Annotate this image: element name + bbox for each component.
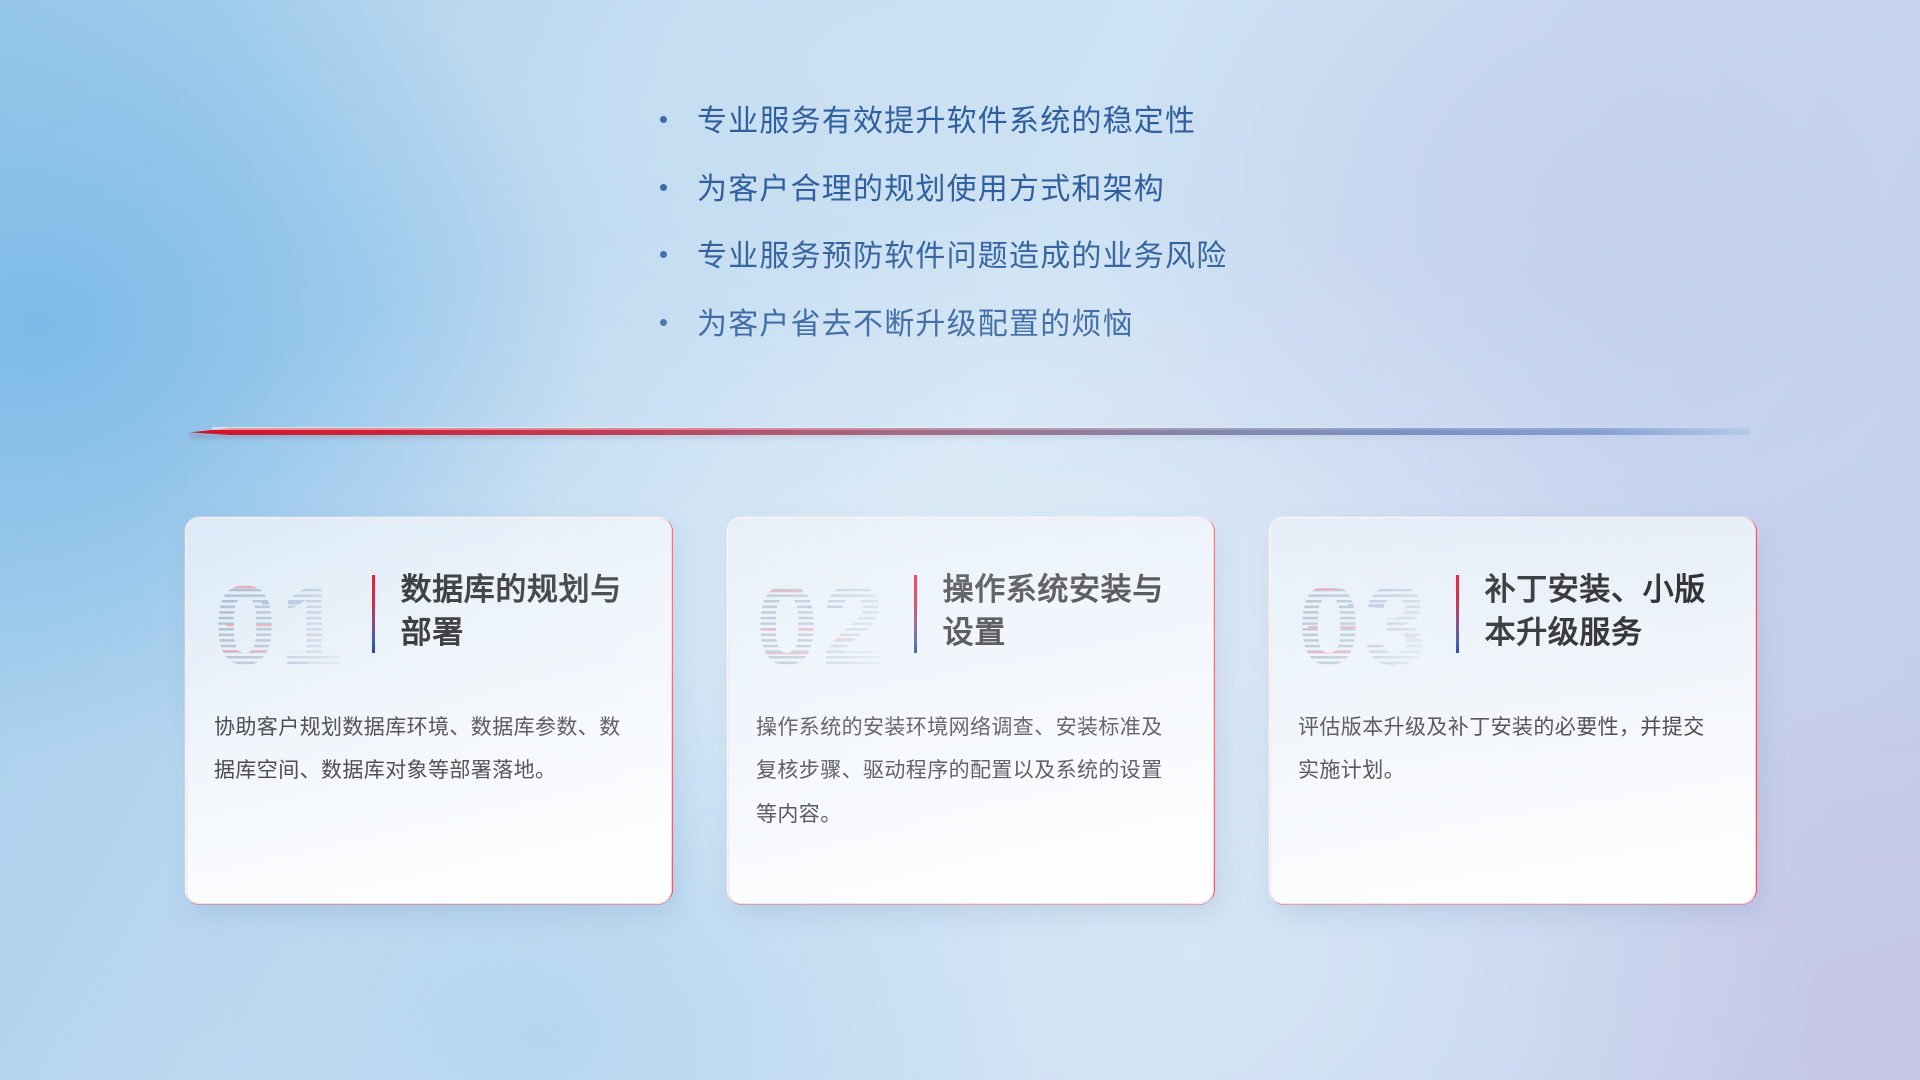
card-title: 补丁安装、小版本升级服务 [1485, 566, 1725, 655]
card-number-striped-graphic: 01 [210, 572, 370, 682]
card-title: 数据库的规划与部署 [401, 566, 641, 655]
card-number-striped-graphic: 02 [752, 572, 912, 682]
service-card-row: 01 数 [186, 518, 1756, 903]
bullet-dot-icon [660, 251, 667, 258]
list-item: 专业服务预防软件问题造成的业务风险 [660, 239, 1480, 276]
slide-canvas: 专业服务有效提升软件系统的稳定性 为客户合理的规划使用方式和架构 专业服务预防软… [0, 0, 1920, 1080]
card-description: 评估版本升级及补丁安装的必要性，并提交实施计划。 [1270, 694, 1755, 793]
bullet-label: 专业服务预防软件问题造成的业务风险 [697, 239, 1227, 276]
card-description: 协助客户规划数据库环境、数据库参数、数据库空间、数据库对象等部署落地。 [186, 694, 671, 793]
card-accent-rule [372, 575, 375, 653]
divider-highlight [212, 427, 1750, 430]
bullet-label: 为客户省去不断升级配置的烦恼 [697, 307, 1134, 344]
list-item: 专业服务有效提升软件系统的稳定性 [660, 104, 1480, 141]
list-item: 为客户合理的规划使用方式和架构 [660, 172, 1480, 209]
card-title: 操作系统安装与设置 [943, 566, 1183, 655]
bullet-label: 专业服务有效提升软件系统的稳定性 [697, 104, 1196, 141]
service-card-03[interactable]: 03 补 [1270, 518, 1755, 903]
bullet-dot-icon [660, 319, 667, 326]
card-description: 操作系统的安装环境网络调查、安装标准及复核步骤、驱动程序的配置以及系统的设置等内… [728, 694, 1213, 836]
card-header: 02 操 [728, 518, 1213, 694]
card-accent-rule [1456, 575, 1459, 653]
list-item: 为客户省去不断升级配置的烦恼 [660, 307, 1480, 344]
service-card-01[interactable]: 01 数 [186, 518, 671, 903]
benefit-bullet-list: 专业服务有效提升软件系统的稳定性 为客户合理的规划使用方式和架构 专业服务预防软… [660, 104, 1480, 374]
card-header: 03 补 [1270, 518, 1755, 694]
bullet-dot-icon [660, 184, 667, 191]
section-divider [190, 424, 1750, 438]
bullet-label: 为客户合理的规划使用方式和架构 [697, 172, 1165, 209]
card-header: 01 数 [186, 518, 671, 694]
card-number-striped-graphic: 03 [1294, 572, 1454, 682]
service-card-02[interactable]: 02 操 [728, 518, 1213, 903]
bullet-dot-icon [660, 116, 667, 123]
divider-shadow [190, 434, 1750, 438]
card-accent-rule [914, 575, 917, 653]
